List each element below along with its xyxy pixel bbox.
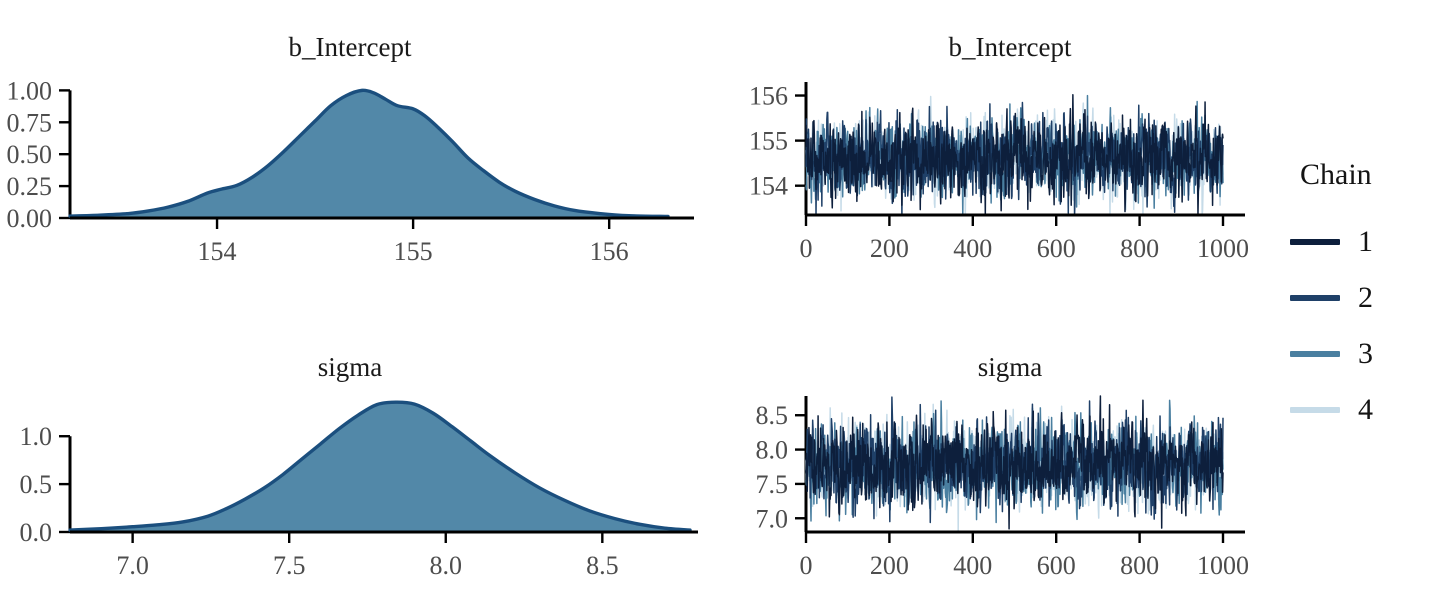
legend-entry-label: 2 [1358, 283, 1373, 313]
legend-entry-label: 1 [1358, 227, 1373, 257]
trace-b-intercept-plot: 15415515602004006008001000 [740, 30, 1280, 290]
chain-legend: Chain 1234 [1290, 158, 1440, 438]
y-tick-label: 0.50 [7, 140, 53, 169]
legend-entry-label: 3 [1358, 339, 1373, 369]
y-tick-label: 0.00 [7, 204, 53, 233]
x-tick-label: 800 [1120, 234, 1159, 263]
y-tick-label: 1.0 [20, 422, 53, 451]
legend-line-icon [1290, 351, 1340, 357]
density-b-intercept-plot: 0.000.250.500.751.00154155156 [0, 30, 700, 290]
panel-density-sigma: sigma 0.00.51.07.07.58.08.5 [0, 350, 700, 600]
y-tick-label: 0.5 [20, 470, 53, 499]
x-tick-label: 156 [590, 237, 629, 266]
x-tick-label: 800 [1120, 551, 1159, 580]
x-tick-label: 8.0 [430, 551, 463, 580]
trace-sigma-plot: 7.07.58.08.502004006008001000 [740, 350, 1280, 600]
density-sigma-plot: 0.00.51.07.07.58.08.5 [0, 350, 700, 600]
x-tick-label: 200 [870, 234, 909, 263]
x-tick-label: 1000 [1197, 234, 1249, 263]
y-tick-label: 154 [749, 172, 788, 201]
x-tick-label: 0 [800, 234, 813, 263]
legend-entry-chain-1[interactable]: 1 [1290, 214, 1440, 270]
legend-entry-chain-3[interactable]: 3 [1290, 326, 1440, 382]
panel-trace-sigma: sigma 7.07.58.08.502004006008001000 [740, 350, 1280, 600]
legend-line-icon [1290, 239, 1340, 245]
panel-density-b-intercept: b_Intercept 0.000.250.500.751.0015415515… [0, 30, 700, 290]
x-tick-label: 155 [394, 237, 433, 266]
mcmc-diagnostic-figure: b_Intercept 0.000.250.500.751.0015415515… [0, 0, 1440, 600]
y-tick-label: 8.5 [756, 401, 789, 430]
y-tick-label: 156 [749, 82, 788, 111]
y-tick-label: 7.0 [756, 504, 789, 533]
x-tick-label: 7.0 [116, 551, 149, 580]
x-tick-label: 600 [1037, 234, 1076, 263]
x-tick-label: 154 [198, 237, 237, 266]
legend-entries: 1234 [1290, 214, 1440, 438]
y-tick-label: 0.75 [7, 108, 53, 137]
legend-entry-chain-4[interactable]: 4 [1290, 382, 1440, 438]
panel-trace-b-intercept: b_Intercept 15415515602004006008001000 [740, 30, 1280, 290]
legend-title: Chain [1290, 158, 1440, 192]
y-tick-label: 0.25 [7, 172, 53, 201]
y-tick-label: 8.0 [756, 436, 789, 465]
x-tick-label: 8.5 [586, 551, 619, 580]
legend-line-icon [1290, 295, 1340, 301]
y-tick-label: 155 [749, 127, 788, 156]
x-tick-label: 1000 [1197, 551, 1249, 580]
x-tick-label: 400 [953, 234, 992, 263]
y-tick-label: 1.00 [7, 76, 53, 105]
legend-entry-chain-2[interactable]: 2 [1290, 270, 1440, 326]
density-fill [70, 90, 668, 218]
x-tick-label: 0 [800, 551, 813, 580]
legend-line-icon [1290, 407, 1340, 413]
x-tick-label: 200 [870, 551, 909, 580]
x-tick-label: 600 [1037, 551, 1076, 580]
legend-entry-label: 4 [1358, 395, 1373, 425]
y-tick-label: 7.5 [756, 470, 789, 499]
y-tick-label: 0.0 [20, 518, 53, 547]
x-tick-label: 7.5 [273, 551, 306, 580]
x-tick-label: 400 [953, 551, 992, 580]
